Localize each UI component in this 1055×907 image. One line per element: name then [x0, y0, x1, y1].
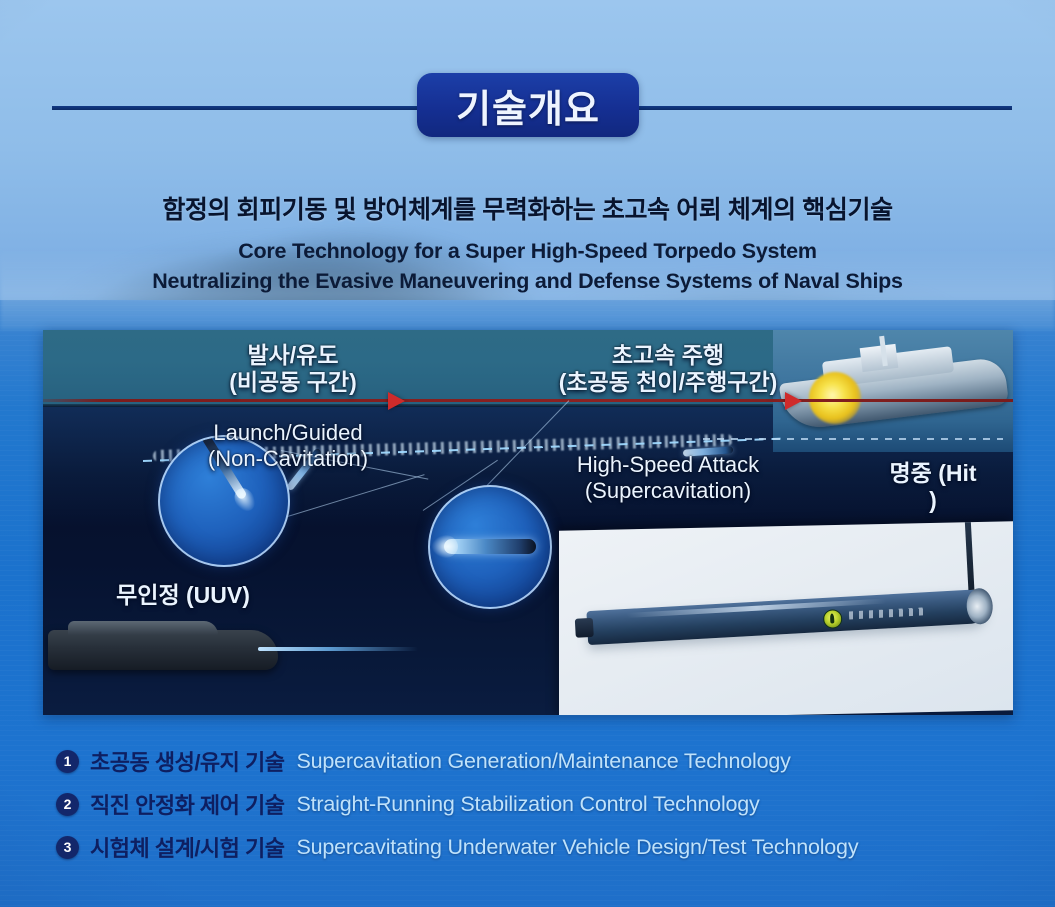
diagram-panel: 발사/유도 (비공동 구간) Launch/Guided (Non-Cavita…	[43, 330, 1013, 715]
torpedo-tail-nozzle	[966, 588, 994, 625]
list-item-number-badge: 2	[56, 793, 79, 816]
technology-list: 1 초공동 생성/유지 기술 Supercavitation Generatio…	[56, 745, 996, 874]
list-item: 1 초공동 생성/유지 기술 Supercavitation Generatio…	[56, 745, 996, 777]
title-badge: 기술개요	[417, 73, 639, 137]
label-highspeed-korean-line-1: 초고속 주행	[508, 342, 828, 369]
label-launch-korean-line-1: 발사/유도	[163, 342, 423, 369]
label-launch-english-line-2: (Non-Cavitation)	[138, 446, 438, 472]
torpedo-highlight	[627, 598, 887, 618]
label-hit-line-1: 명중 (Hit	[843, 460, 1013, 487]
label-highspeed-english-line-2: (Supercavitation)	[518, 478, 818, 504]
label-highspeed-korean-line-2: (초공동 천이/주행구간)	[508, 369, 828, 396]
label-launch-english-line-1: Launch/Guided	[138, 420, 438, 446]
torpedo-icon	[444, 539, 536, 554]
torpedo-render	[586, 589, 987, 645]
presentation-slide: 기술개요 함정의 회피기동 및 방어체계를 무력화하는 초고속 어뢰 체계의 핵…	[0, 0, 1055, 907]
label-uuv: 무인정 (UUV)	[68, 582, 298, 609]
label-launch-english: Launch/Guided (Non-Cavitation)	[138, 420, 438, 472]
list-item-label-english: Straight-Running Stabilization Control T…	[297, 792, 760, 817]
page-title-korean: 함정의 회피기동 및 방어체계를 무력화하는 초고속 어뢰 체계의 핵심기술	[0, 190, 1055, 226]
torpedo-body-marking	[849, 607, 927, 619]
list-item-label-korean: 직진 안정화 제어 기술	[90, 788, 285, 820]
label-highspeed-english-line-1: High-Speed Attack	[518, 452, 818, 478]
list-item: 3 시험체 설계/시험 기술 Supercavitating Underwate…	[56, 831, 996, 863]
list-item-label-english: Supercavitating Underwater Vehicle Desig…	[297, 835, 859, 860]
label-hit: 명중 (Hit )	[843, 460, 1013, 514]
list-item-label-korean: 초공동 생성/유지 기술	[90, 745, 285, 777]
label-launch-korean-line-2: (비공동 구간)	[163, 369, 423, 396]
uuv-launched-torpedo	[258, 647, 418, 651]
page-subtitle-english: Core Technology for a Super High-Speed T…	[0, 236, 1055, 296]
list-item-number-badge: 3	[56, 836, 79, 859]
page-subtitle-line-1: Core Technology for a Super High-Speed T…	[0, 236, 1055, 266]
torpedo-fin	[964, 521, 975, 590]
torpedo-path-dashed	[703, 438, 1003, 440]
torpedo-product-inset	[559, 521, 1013, 715]
page-subtitle-line-2: Neutralizing the Evasive Maneuvering and…	[0, 266, 1055, 296]
list-item-label-korean: 시험체 설계/시험 기술	[90, 831, 285, 863]
label-launch-korean: 발사/유도 (비공동 구간)	[163, 342, 423, 396]
list-item-label-english: Supercavitation Generation/Maintenance T…	[297, 749, 791, 774]
surface-trajectory-line	[43, 399, 1013, 402]
list-item: 2 직진 안정화 제어 기술 Straight-Running Stabiliz…	[56, 788, 996, 820]
label-hit-line-2: )	[843, 487, 1013, 514]
ship-bridge-tower	[860, 344, 899, 372]
emblem-icon	[823, 609, 843, 629]
uuv-superstructure	[68, 621, 218, 635]
title-badge-label: 기술개요	[456, 78, 600, 133]
label-highspeed-english: High-Speed Attack (Supercavitation)	[518, 452, 818, 504]
label-highspeed-korean: 초고속 주행 (초공동 천이/주행구간)	[508, 342, 828, 396]
list-item-number-badge: 1	[56, 750, 79, 773]
uuv-vessel	[48, 630, 278, 670]
